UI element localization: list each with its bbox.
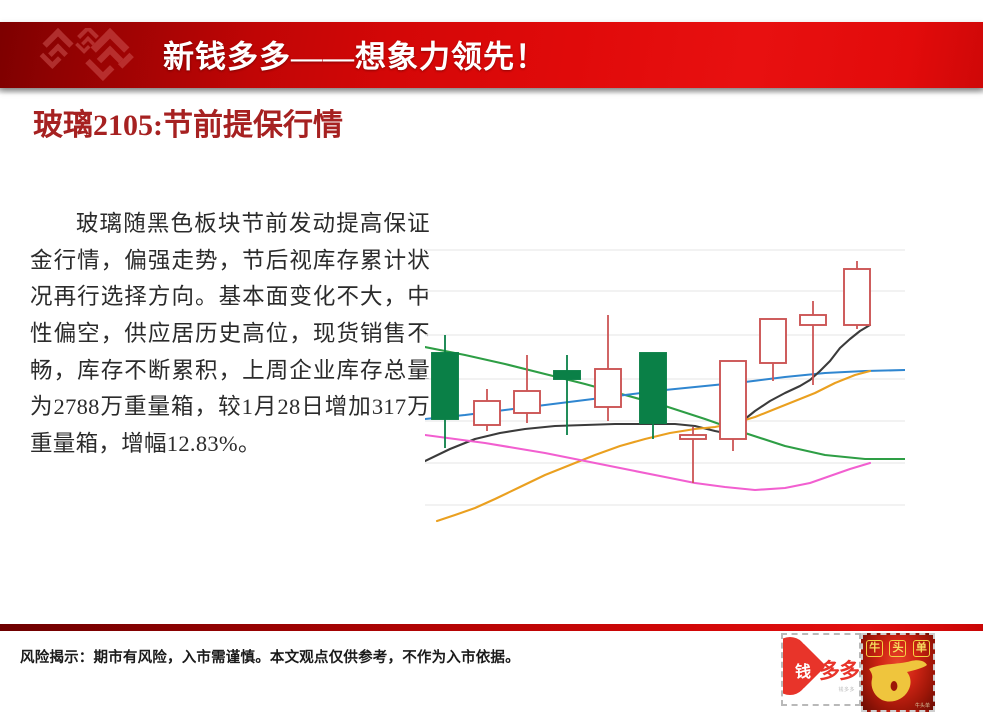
candle xyxy=(760,319,786,381)
candle-body xyxy=(800,315,826,325)
footer-disclaimer: 风险揭示：期市有风险，入市需谨慎。本文观点仅供参考，不作为入市依据。 xyxy=(20,646,720,667)
body-paragraph: 玻璃随黑色板块节前发动提高保证金行情，偏强走势，节后视库存累计状况再行选择方向。… xyxy=(30,206,430,463)
stamp-left-text: 多多 xyxy=(819,655,859,685)
candle xyxy=(595,315,621,421)
candle xyxy=(514,355,540,423)
candle-body xyxy=(432,353,458,419)
diamond-lattice-logo-icon xyxy=(28,28,146,86)
candle-body xyxy=(640,353,666,423)
chart-canvas xyxy=(425,243,905,523)
candle xyxy=(720,361,746,451)
qianduoduo-mark: 钱 多多 钱多多 xyxy=(783,645,859,695)
candle-body xyxy=(844,269,870,325)
body-paragraph-text: 玻璃随黑色板块节前发动提高保证金行情，偏强走势，节后视库存累计状况再行选择方向。… xyxy=(30,211,430,456)
niutoudan-chars: 牛 头 单 xyxy=(863,640,933,657)
banner-shadow xyxy=(0,88,983,95)
candlestick-chart xyxy=(425,243,905,523)
page-title: 玻璃2105:节前提保行情 xyxy=(33,104,433,148)
candle xyxy=(554,355,580,435)
footer-divider xyxy=(0,624,983,631)
stamp-left-caption: 钱多多 xyxy=(838,686,855,693)
candle-body xyxy=(760,319,786,363)
stamp-left-heart-char: 钱 xyxy=(791,658,815,682)
footer-logos: 钱 多多 钱多多 牛 头 单 牛头单 xyxy=(781,633,939,713)
candle-body xyxy=(474,401,500,425)
candle xyxy=(844,261,870,329)
niutoudan-stamp: 牛 头 单 牛头单 xyxy=(861,633,935,712)
banner-title: 新钱多多——想象力领先！ xyxy=(163,32,547,77)
niutoudan-mark: 牛 头 单 牛头单 xyxy=(863,635,933,710)
niutoudan-char-2: 头 xyxy=(889,640,906,657)
candle-body xyxy=(554,371,580,379)
candle xyxy=(474,389,500,431)
stamp-right-caption: 牛头单 xyxy=(915,702,930,709)
candle-body xyxy=(514,391,540,413)
candle xyxy=(640,353,666,439)
header-banner: 新钱多多——想象力领先！ xyxy=(0,22,983,88)
candle-body xyxy=(595,369,621,407)
candle-body xyxy=(720,361,746,439)
niutoudan-char-1: 牛 xyxy=(866,640,883,657)
candle xyxy=(680,427,706,483)
candle-body xyxy=(680,435,706,439)
qianduoduo-stamp: 钱 多多 钱多多 xyxy=(781,633,861,706)
bull-icon xyxy=(867,659,929,705)
niutoudan-char-3: 单 xyxy=(913,640,930,657)
